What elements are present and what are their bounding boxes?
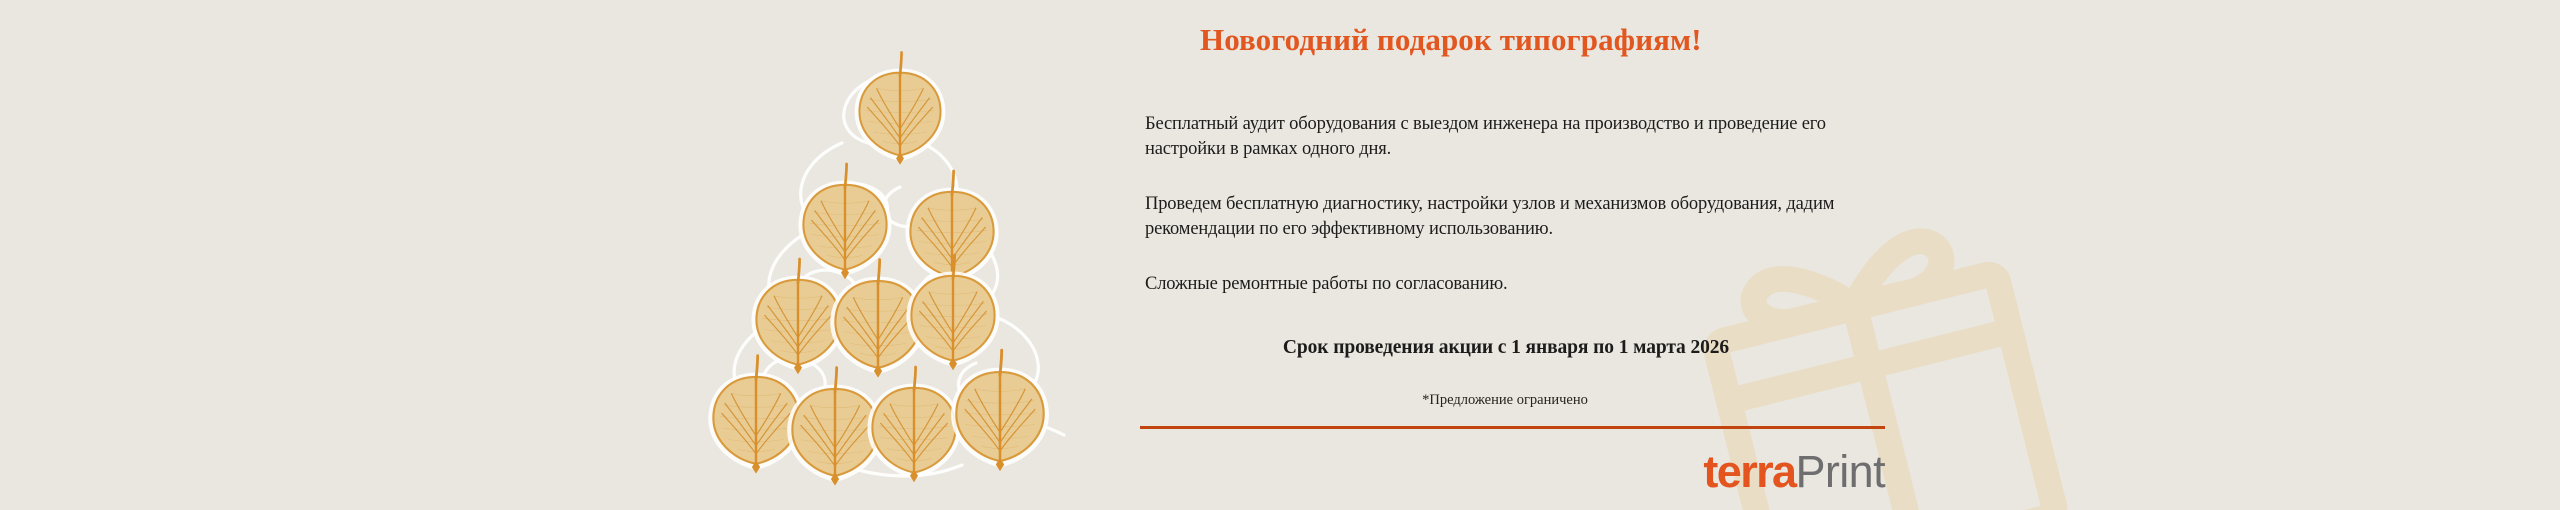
divider bbox=[1140, 426, 1885, 429]
promo-banner: Новогодний подарок типографиям! Бесплатн… bbox=[0, 0, 2560, 510]
body-paragraph-1: Бесплатный аудит оборудования с выездом … bbox=[1145, 112, 1905, 162]
leaf bbox=[708, 356, 804, 474]
leaf bbox=[905, 171, 998, 286]
content-column: Новогодний подарок типографиям! Бесплатн… bbox=[1145, 0, 1905, 510]
logo-terra-text: terra bbox=[1703, 446, 1795, 497]
page-title: Новогодний подарок типографиям! bbox=[1200, 22, 1900, 58]
logo-print-text: Print bbox=[1795, 446, 1885, 497]
leaf bbox=[906, 255, 999, 370]
footnote-text: *Предложение ограничено bbox=[1145, 391, 1905, 409]
leaf bbox=[867, 367, 960, 482]
leaf bbox=[798, 164, 891, 279]
body-paragraph-2: Проведем бесплатную диагностику, настрой… bbox=[1145, 192, 1905, 242]
body-paragraph-3: Сложные ремонтные работы по согласованию… bbox=[1145, 272, 1905, 297]
logo-terraprint[interactable]: terraPrint bbox=[1145, 446, 1885, 498]
promo-period-text: Срок проведения акции с 1 января по 1 ма… bbox=[1145, 336, 1905, 360]
christmas-tree-of-leaves bbox=[690, 15, 1110, 510]
